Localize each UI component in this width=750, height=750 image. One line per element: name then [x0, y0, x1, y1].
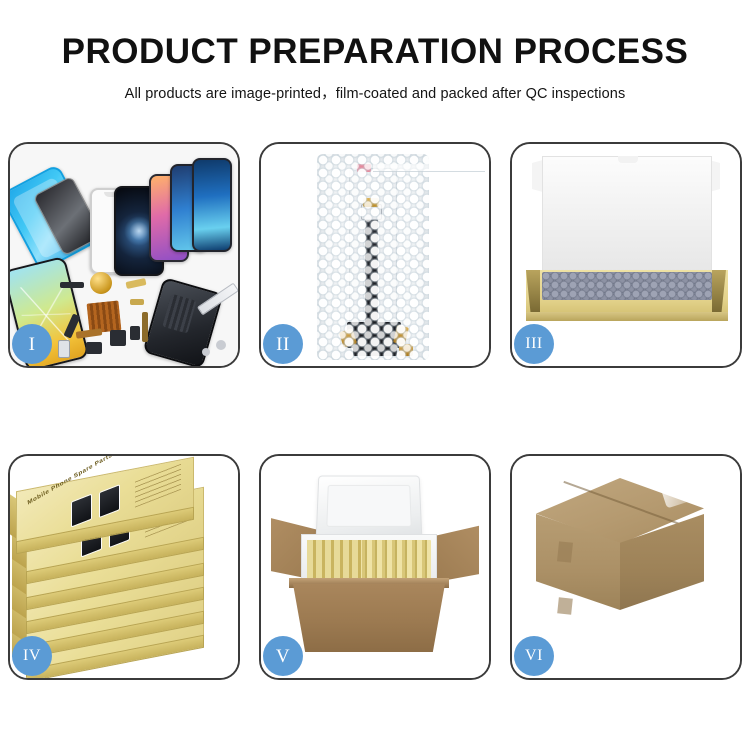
- carton-tape-mark: [557, 541, 573, 562]
- grey-foam-padding: [542, 272, 712, 300]
- spare-part: [130, 326, 140, 340]
- box-phone-graphic: [99, 484, 120, 518]
- spare-part: [130, 299, 144, 305]
- page-title: PRODUCT PREPARATION PROCESS: [0, 34, 750, 69]
- carton-body: [293, 584, 445, 652]
- process-step-card-6: VI: [510, 454, 742, 680]
- spare-part: [86, 342, 102, 354]
- process-step-card-2: II: [259, 142, 491, 368]
- bubble-wrap-bag: [317, 154, 429, 360]
- spare-part: [142, 312, 148, 342]
- spare-part: [216, 340, 226, 350]
- spare-part: [110, 330, 126, 346]
- page-subtitle: All products are image-printed，film-coat…: [0, 82, 750, 103]
- spare-part: [60, 282, 84, 288]
- carton-tape-mark: [557, 597, 573, 614]
- foam-lid: [316, 476, 423, 541]
- step-badge-4: IV: [12, 636, 52, 676]
- bag-seal: [373, 164, 485, 172]
- lid-tab: [618, 156, 638, 163]
- box-spec-lines: [135, 464, 181, 508]
- step-badge-5: V: [263, 636, 303, 676]
- step-badge-2: II: [263, 324, 303, 364]
- spare-part: [58, 340, 70, 358]
- process-step-card-4: Mobile Phone Spare Parts Mobile Phone Sp…: [8, 454, 240, 680]
- process-step-card-1: I: [8, 142, 240, 368]
- step-badge-6: VI: [514, 636, 554, 676]
- process-step-grid: I: [8, 142, 742, 680]
- tray-front-lip: [526, 312, 728, 321]
- step-badge-3: III: [514, 324, 554, 364]
- spare-part: [125, 278, 146, 289]
- product-preparation-infographic: PRODUCT PREPARATION PROCESS All products…: [0, 0, 750, 750]
- phone-back-housing: [142, 277, 223, 366]
- box-lid-panel: [542, 156, 712, 278]
- gold-component: [90, 272, 112, 294]
- step-badge-1: I: [12, 324, 52, 364]
- process-step-card-5: V: [259, 454, 491, 680]
- header: PRODUCT PREPARATION PROCESS All products…: [0, 0, 750, 103]
- box-phone-graphic: [71, 493, 92, 527]
- packed-yellow-boxes-row: [307, 540, 361, 580]
- process-step-card-3: III: [510, 142, 742, 368]
- phone-blue-two: [192, 158, 232, 252]
- spare-part: [202, 348, 210, 356]
- bubble-texture: [317, 154, 429, 360]
- carton-highlight: [659, 470, 711, 509]
